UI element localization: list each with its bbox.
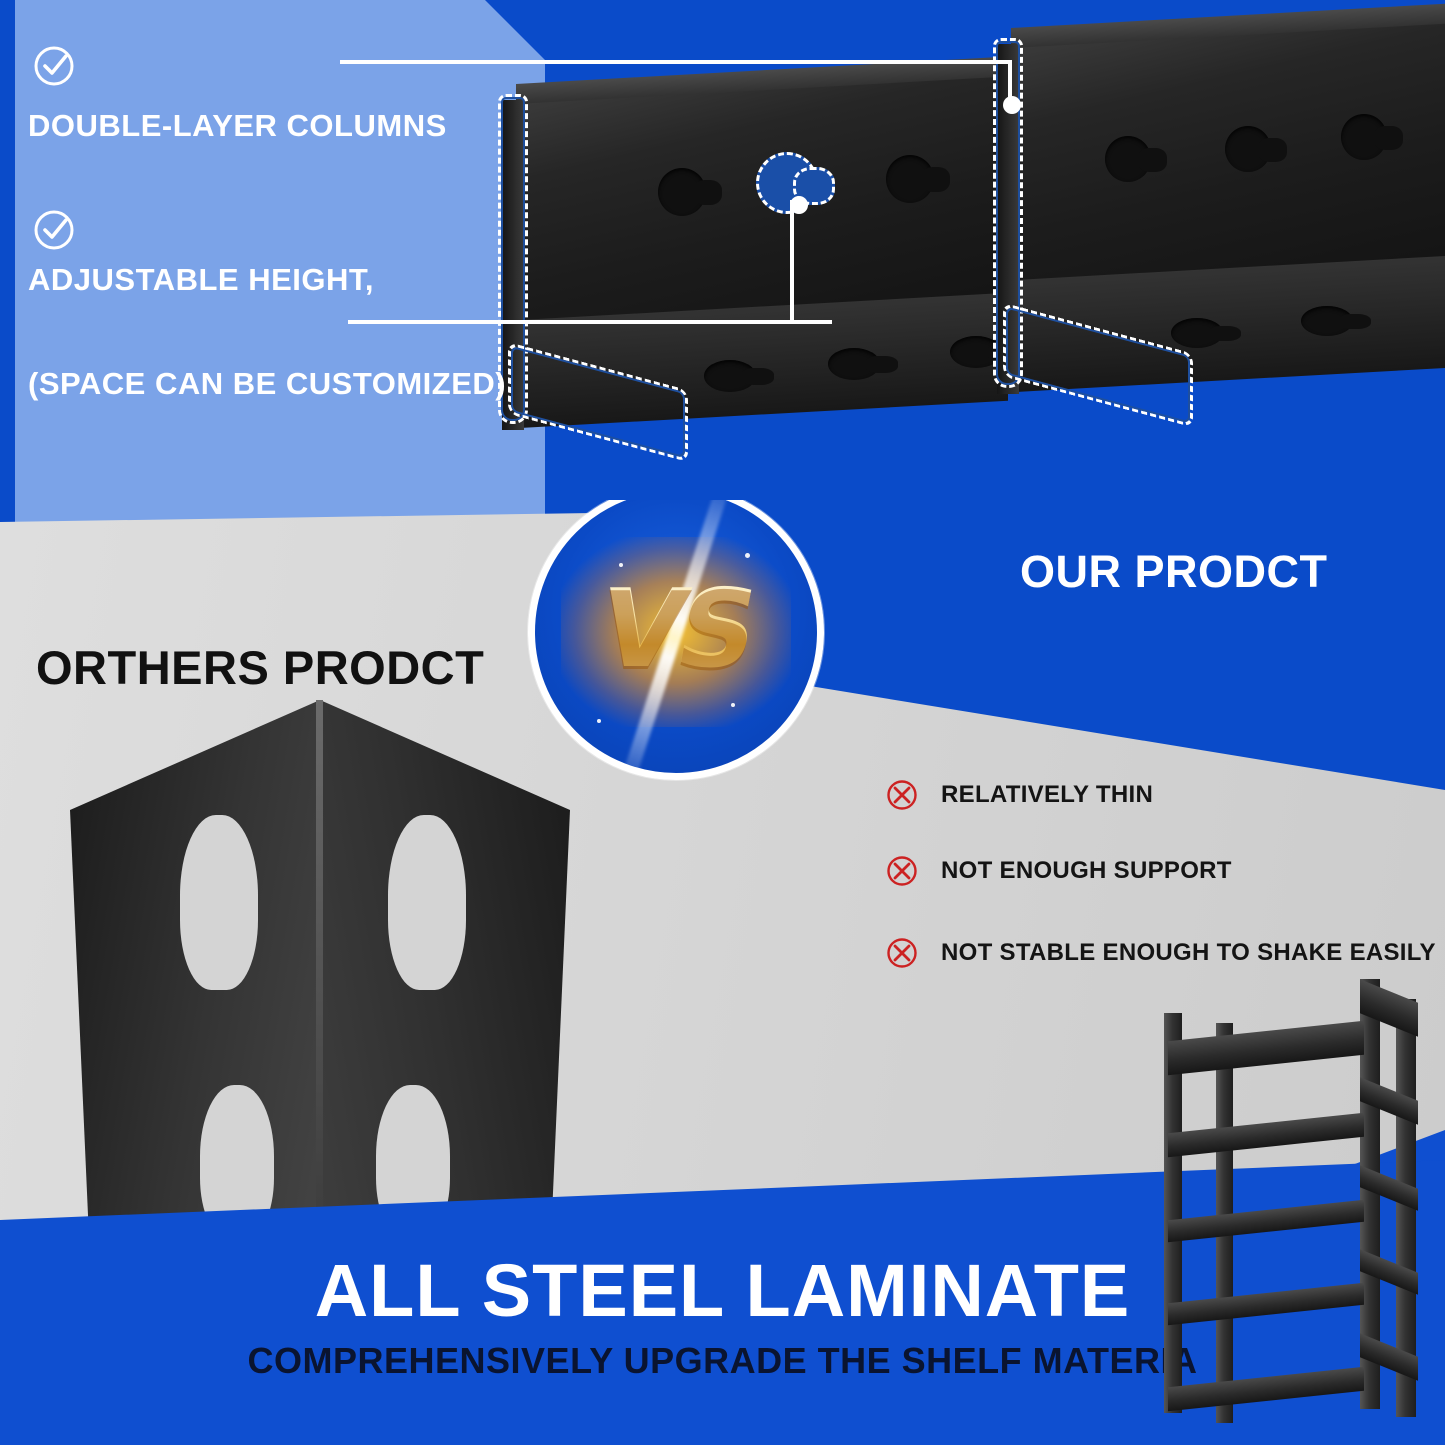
others-angle-post-image xyxy=(70,700,570,1260)
con-item-1: RELATIVELY THIN xyxy=(885,778,1153,812)
vs-spark xyxy=(745,553,750,558)
vs-label: VS xyxy=(589,567,763,692)
rack-shelf xyxy=(1168,1283,1364,1326)
highlighted-keyhole xyxy=(756,152,818,214)
callout-line-bottom xyxy=(348,320,832,324)
callout-line-top-drop xyxy=(1008,60,1012,100)
heading-others-product: ORTHERS PRODCT xyxy=(36,640,484,695)
keyhole-slot xyxy=(1171,318,1223,348)
vs-spark xyxy=(597,719,601,723)
vs-spark xyxy=(619,563,623,567)
keyhole-slot xyxy=(704,360,756,392)
keyhole-slot xyxy=(1341,114,1387,160)
con-label-3: NOT STABLE ENOUGH TO SHAKE EASILY xyxy=(941,939,1436,967)
feature-label-3: (SPACE CAN BE CUSTOMIZED) xyxy=(28,366,506,402)
callout-dot xyxy=(1003,96,1021,114)
callout-line-bottom-riser xyxy=(790,200,794,324)
vs-spark xyxy=(731,703,735,707)
top-left-panel xyxy=(0,0,545,522)
cross-circle-icon xyxy=(885,778,919,812)
con-label-1: RELATIVELY THIN xyxy=(941,781,1153,809)
our-shelving-rack-image xyxy=(1128,965,1438,1435)
heading-our-product: OUR PRODCT xyxy=(1020,546,1328,598)
keyhole-slot xyxy=(1105,136,1151,182)
rack-shelf xyxy=(1168,1113,1364,1158)
feature-bullet-1 xyxy=(32,44,76,88)
cross-circle-icon xyxy=(885,936,919,970)
infographic-canvas: DOUBLE-LAYER COLUMNS ADJUSTABLE HEIGHT, … xyxy=(0,0,1445,1445)
rack-shelf xyxy=(1168,1200,1364,1243)
keyhole-slot xyxy=(1301,306,1353,336)
callout-line-top xyxy=(340,60,1012,64)
callout-dot xyxy=(790,196,808,214)
cross-circle-icon xyxy=(885,854,919,888)
keyhole-slot xyxy=(1225,126,1271,172)
steel-beam-front xyxy=(498,70,1008,470)
check-circle-icon xyxy=(32,44,76,88)
left-accent-bar xyxy=(0,0,15,522)
keyhole-slot xyxy=(388,815,466,990)
keyhole-slot xyxy=(658,168,706,216)
feature-label-2: ADJUSTABLE HEIGHT, xyxy=(28,262,374,298)
keyhole-slot xyxy=(180,815,258,990)
con-label-2: NOT ENOUGH SUPPORT xyxy=(941,857,1232,885)
rack-shelf xyxy=(1168,1367,1364,1412)
check-circle-icon xyxy=(32,208,76,252)
feature-bullet-2 xyxy=(32,208,76,252)
rack-shelf xyxy=(1168,1021,1364,1076)
keyhole-slot xyxy=(886,155,934,203)
con-item-2: NOT ENOUGH SUPPORT xyxy=(885,854,1232,888)
keyhole-slot xyxy=(828,348,880,380)
top-feature-section: DOUBLE-LAYER COLUMNS ADJUSTABLE HEIGHT, … xyxy=(0,0,1445,522)
steel-beam-back xyxy=(985,18,1445,478)
feature-label-1: DOUBLE-LAYER COLUMNS xyxy=(28,108,447,144)
